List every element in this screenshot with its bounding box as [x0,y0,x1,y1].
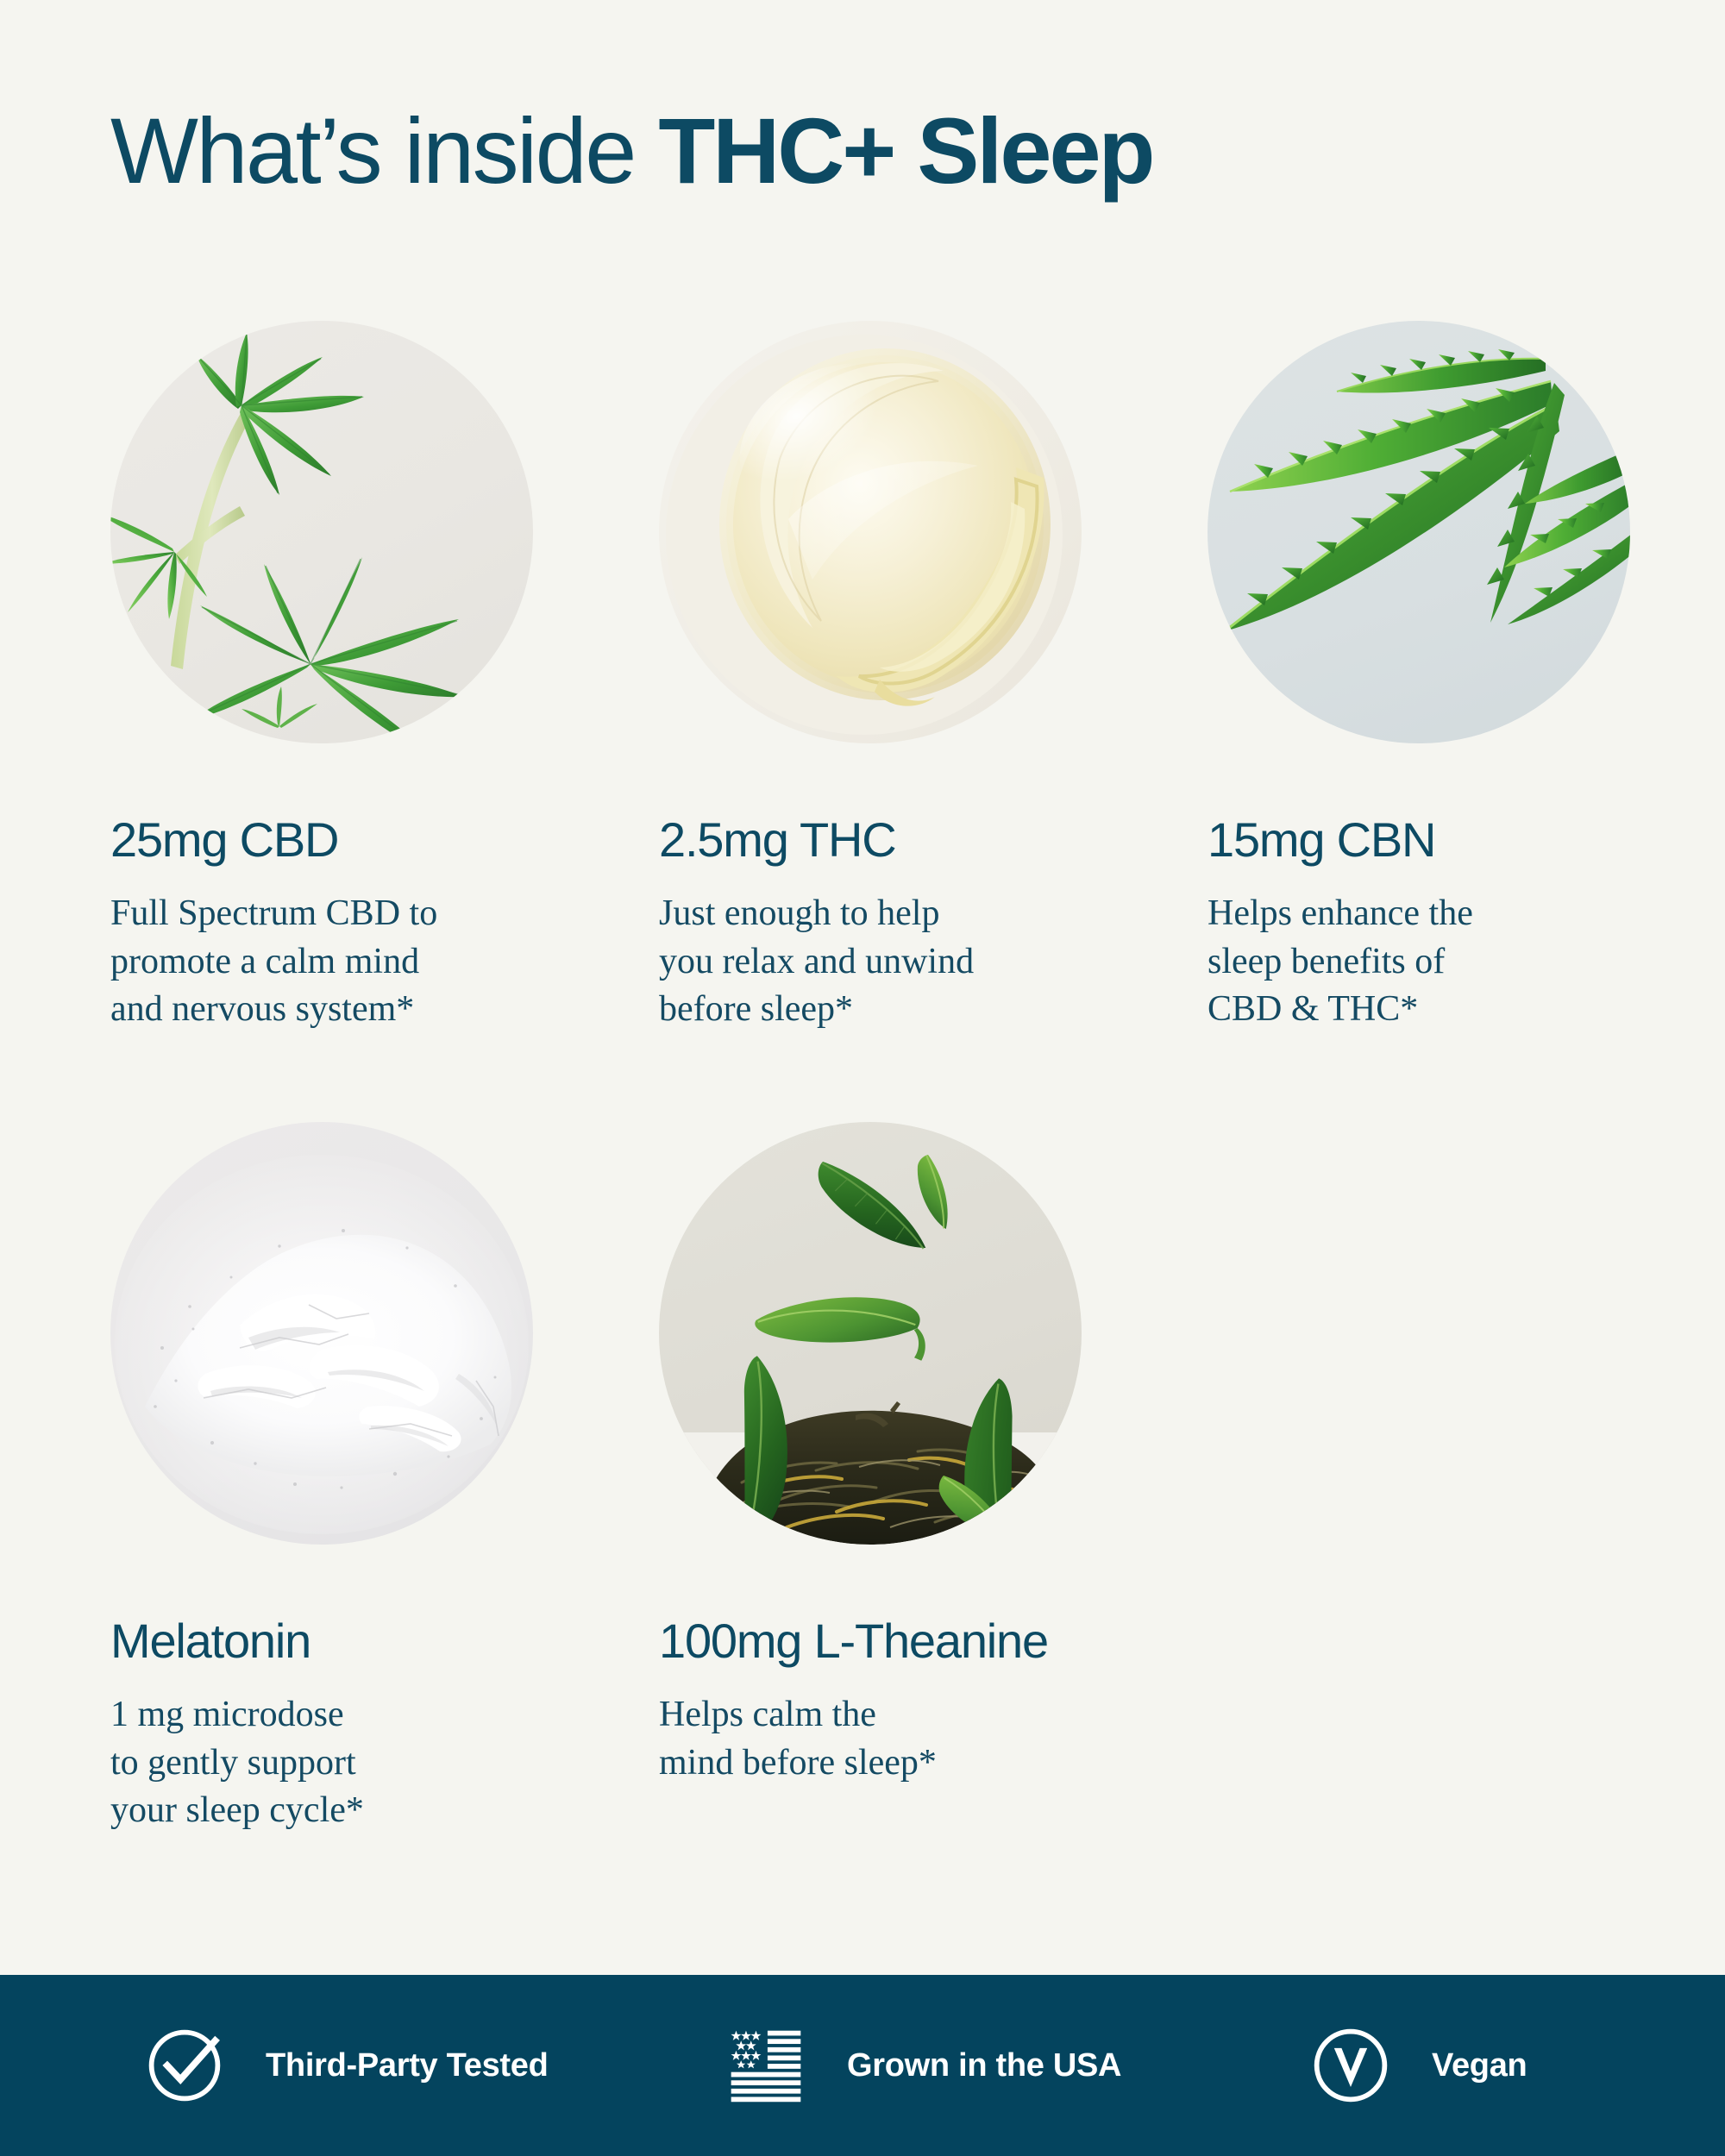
check-circle-icon [143,2024,226,2107]
ingredient-description: Full Spectrum CBD to promote a calm mind… [110,890,593,1033]
oil-droplet-photo [659,321,1082,743]
badge-label: Third-Party Tested [266,2047,549,2084]
ingredient-card-cbn: 15mg CBN Helps enhance the sleep benefit… [1207,321,1690,1034]
cannabis-leaf-illustration [1207,321,1630,743]
page-title-plain: What’s inside [110,98,658,203]
hemp-plant-illustration [110,321,533,743]
trust-badge-bar: Third-Party Tested [0,1975,1725,2156]
badge-label: Grown in the USA [847,2047,1121,2084]
badge-label: Vegan [1432,2047,1527,2084]
ingredient-name: 25mg CBD [110,814,593,866]
ingredient-name: Melatonin [110,1615,593,1667]
cannabis-leaf-photo [1207,321,1630,743]
white-powder-illustration [110,1122,533,1545]
page-title: What’s inside THC+ Sleep [110,102,1153,199]
tea-leaves-illustration [659,1122,1082,1545]
ingredient-card-melatonin: Melatonin 1 mg microdose to gently suppo… [110,1122,593,1835]
oil-droplet-illustration [659,321,1082,743]
ingredient-card-cbd: 25mg CBD Full Spectrum CBD to promote a … [110,321,593,1034]
infographic-page: What’s inside THC+ Sleep [0,0,1725,2156]
page-title-bold: THC+ Sleep [658,98,1152,203]
ingredient-description: Helps enhance the sleep benefits of CBD … [1207,890,1690,1033]
hemp-plant-photo [110,321,533,743]
ingredient-grid: 25mg CBD Full Spectrum CBD to promote a … [110,321,1628,1835]
badge-third-party-tested: Third-Party Tested [143,2024,549,2107]
ingredient-name: 2.5mg THC [659,814,1142,866]
usa-flag-icon [724,2024,807,2107]
ingredient-name: 100mg L-Theanine [659,1615,1142,1667]
ingredient-description: 1 mg microdose to gently support your sl… [110,1691,593,1834]
ingredient-card-thc: 2.5mg THC Just enough to help you relax … [659,321,1142,1034]
badge-grown-in-usa: Grown in the USA [724,2024,1121,2107]
ingredient-name: 15mg CBN [1207,814,1690,866]
tea-leaves-photo [659,1122,1082,1545]
ingredient-card-l-theanine: 100mg L-Theanine Helps calm the mind bef… [659,1122,1142,1835]
white-powder-photo [110,1122,533,1545]
ingredient-description: Helps calm the mind before sleep* [659,1691,1142,1787]
ingredient-description: Just enough to help you relax and unwind… [659,890,1142,1033]
badge-vegan: Vegan [1309,2024,1527,2107]
vegan-v-circle-icon [1309,2024,1392,2107]
